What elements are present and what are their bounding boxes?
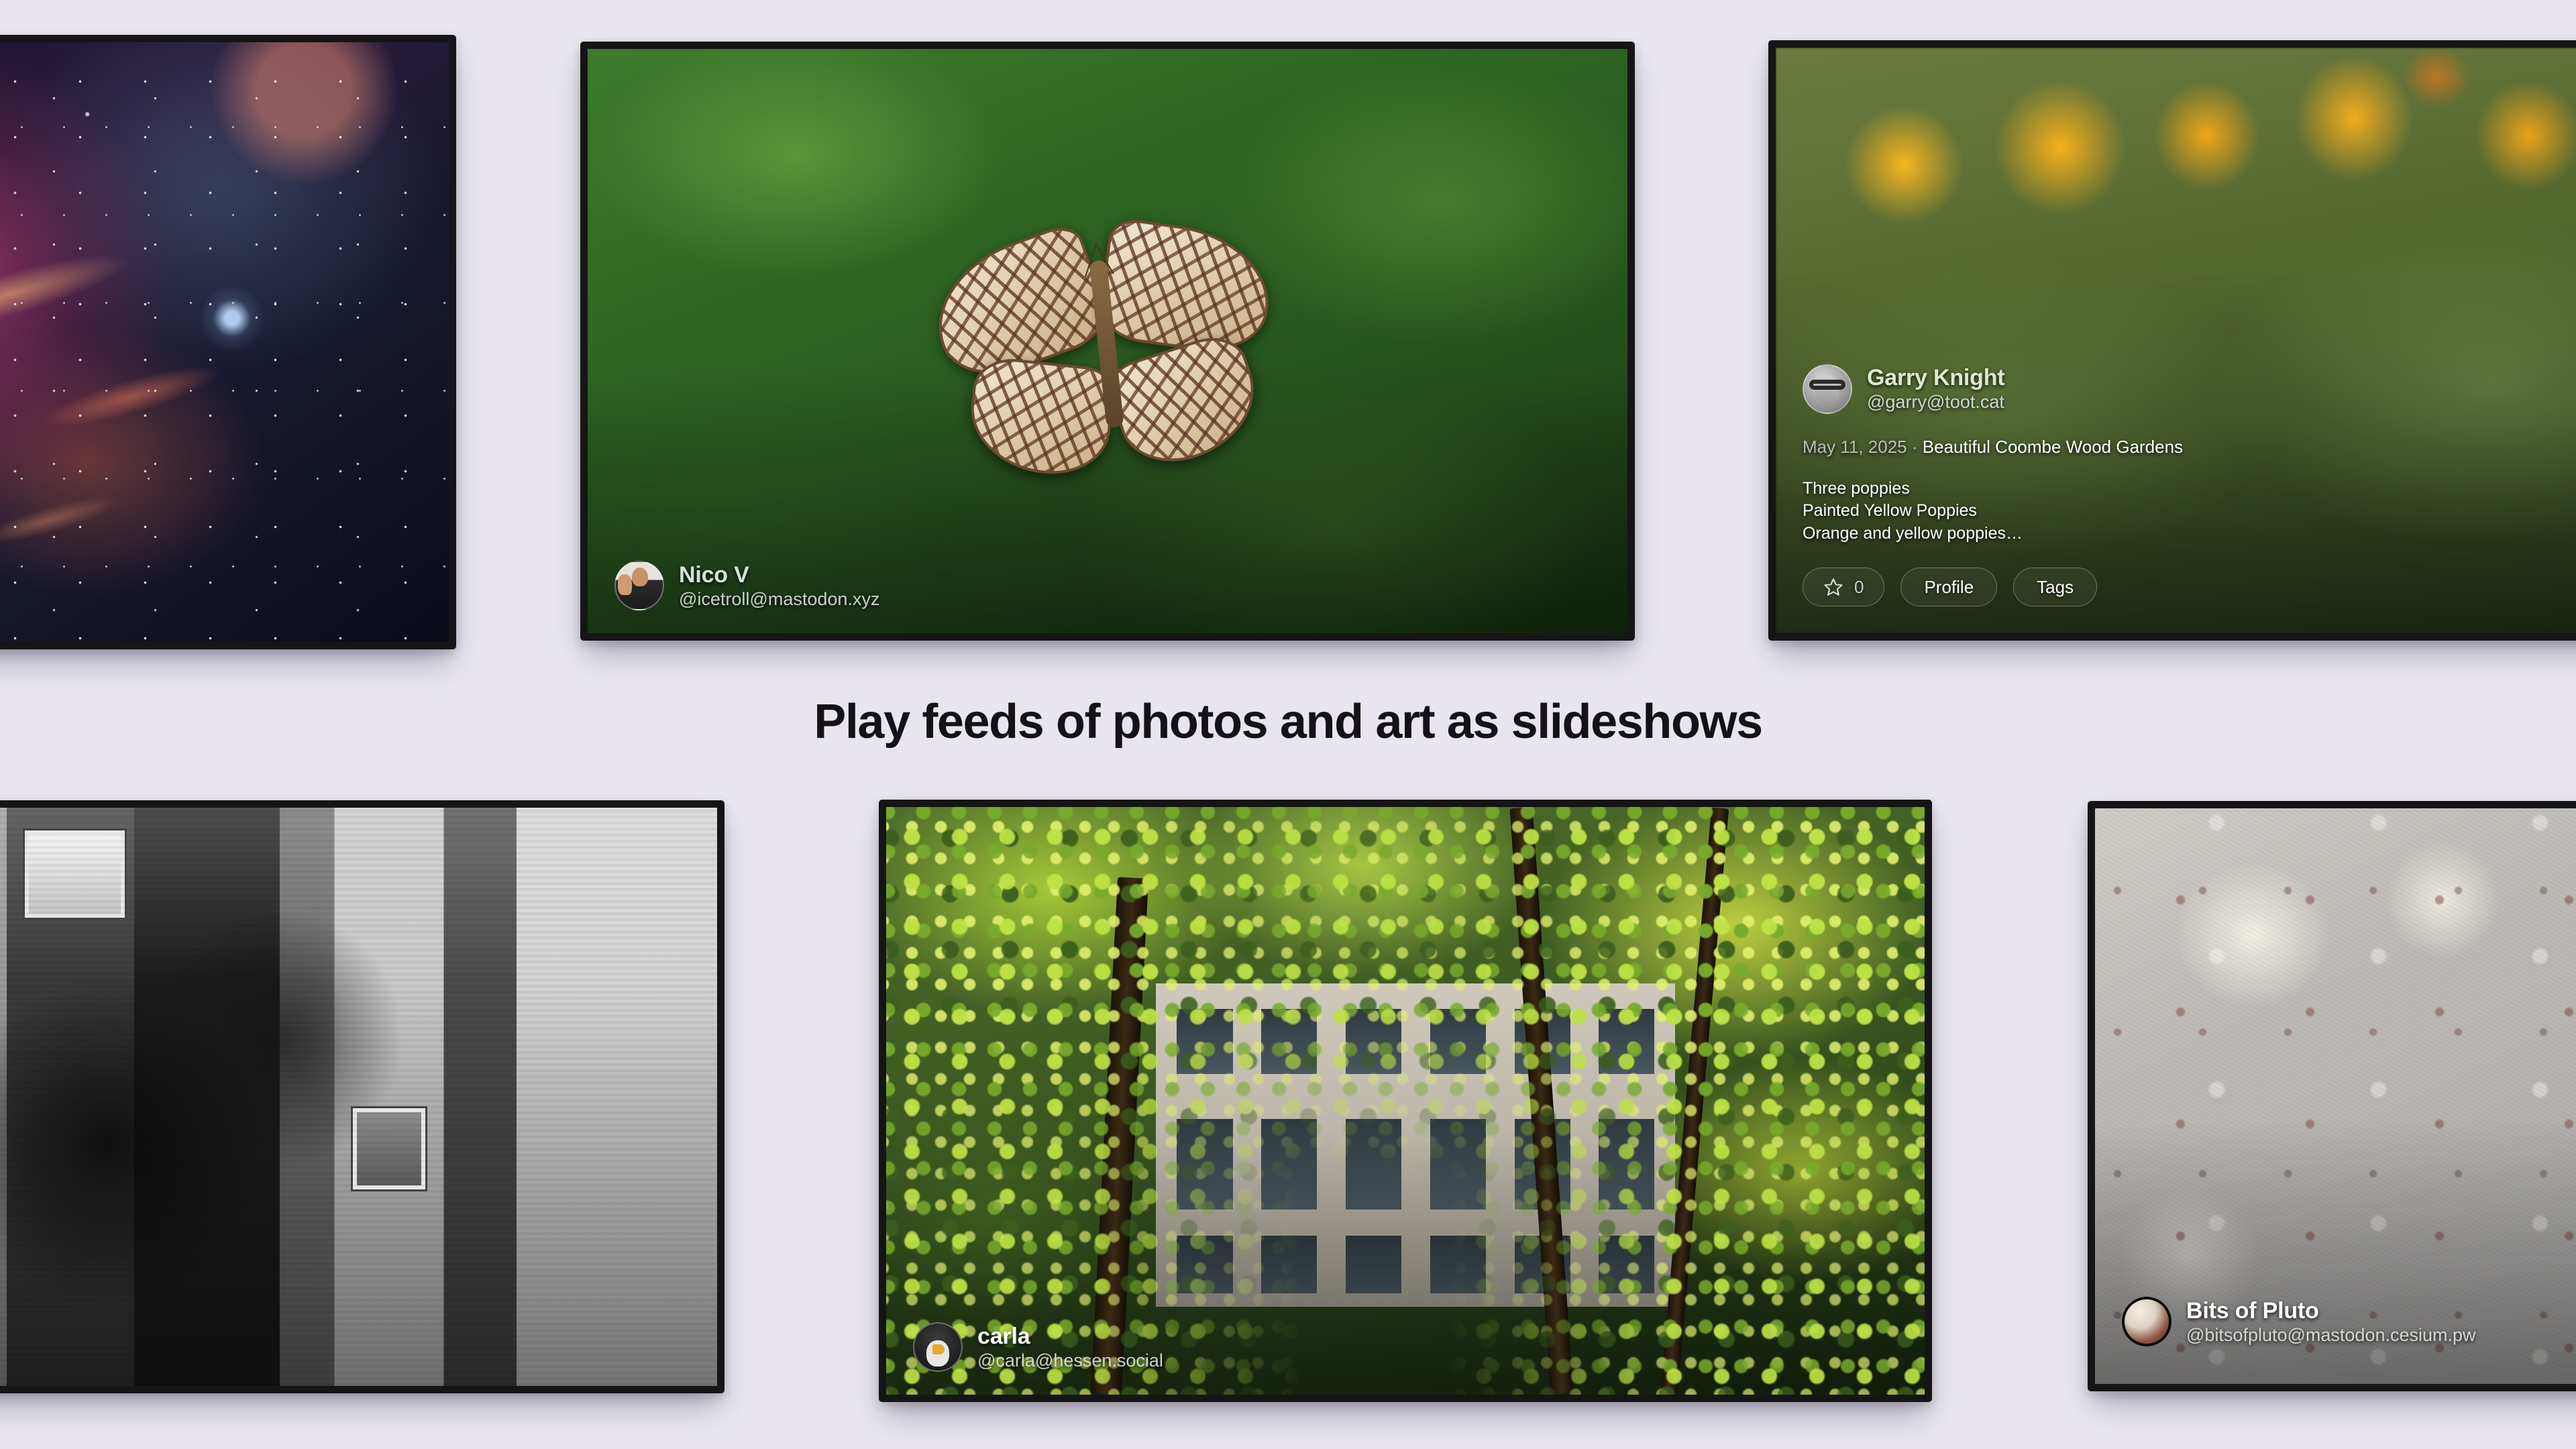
author-text: carla @carla@hessen.social <box>977 1324 1163 1371</box>
post-overlay: Garry Knight @garry@toot.cat May 11, 202… <box>1776 364 2576 634</box>
black-and-white-street-photo <box>0 808 717 1386</box>
author-row[interactable]: carla @carla@hessen.social <box>913 1322 1898 1372</box>
favourite-button[interactable]: 0 <box>1803 568 1884 606</box>
photo-card-trees[interactable]: carla @carla@hessen.social <box>879 800 1932 1402</box>
card-image-frame: Bits of Pluto @bitsofpluto@mastodon.cesi… <box>2095 808 2576 1384</box>
author-row[interactable]: Bits of Pluto @bitsofpluto@mastodon.cesi… <box>2122 1297 2576 1346</box>
avatar[interactable] <box>614 561 664 610</box>
profile-button[interactable]: Profile <box>1900 568 1997 606</box>
avatar[interactable] <box>913 1322 963 1372</box>
author-display-name: Garry Knight <box>1867 365 2004 390</box>
caption-line: Painted Yellow Poppies <box>1803 500 2576 523</box>
page-headline: Play feeds of photos and art as slidesho… <box>0 694 2576 749</box>
star-icon <box>1823 577 1843 597</box>
butterfly-subject <box>886 191 1330 515</box>
card-image-frame <box>0 808 717 1386</box>
post-overlay: Nico V @icetroll@mastodon.xyz <box>588 543 1627 633</box>
author-display-name: carla <box>977 1324 1163 1349</box>
photo-card-poppies[interactable]: Garry Knight @garry@toot.cat May 11, 202… <box>1768 40 2576 641</box>
post-caption: Three poppies Painted Yellow Poppies Ora… <box>1803 478 2576 545</box>
photo-card-street[interactable] <box>0 800 724 1393</box>
card-image-frame: Nico V @icetroll@mastodon.xyz <box>588 49 1627 633</box>
post-date: May 11, 2025 <box>1803 437 1907 457</box>
favourite-count: 0 <box>1854 577 1864 598</box>
author-display-name: Nico V <box>679 562 879 588</box>
card-image-frame: carla @carla@hessen.social <box>886 807 1925 1395</box>
post-overlay: Bits of Pluto @bitsofpluto@mastodon.cesi… <box>2095 1279 2576 1384</box>
author-text: Nico V @icetroll@mastodon.xyz <box>679 562 879 609</box>
avatar[interactable] <box>2122 1297 2171 1346</box>
post-actions: 0 Profile Tags <box>1803 568 2576 606</box>
author-handle: @bitsofpluto@mastodon.cesium.pw <box>2186 1325 2476 1345</box>
author-display-name: Bits of Pluto <box>2186 1298 2476 1324</box>
author-text: Garry Knight @garry@toot.cat <box>1867 365 2004 412</box>
photo-card-butterfly[interactable]: Nico V @icetroll@mastodon.xyz <box>580 42 1635 641</box>
author-handle: @carla@hessen.social <box>977 1350 1163 1371</box>
card-image-frame: Garry Knight @garry@toot.cat May 11, 202… <box>1776 48 2576 633</box>
tags-button[interactable]: Tags <box>2013 568 2097 606</box>
tags-button-label: Tags <box>2037 577 2074 598</box>
card-image-frame <box>0 42 449 642</box>
space-nebula-photo <box>0 42 449 642</box>
post-meta-line: May 11, 2025 · Beautiful Coombe Wood Gar… <box>1803 437 2576 458</box>
photo-card-pluto[interactable]: Bits of Pluto @bitsofpluto@mastodon.cesi… <box>2088 801 2576 1391</box>
photo-card-space-nebula[interactable] <box>0 35 456 649</box>
meta-separator: · <box>1912 437 1918 457</box>
author-handle: @icetroll@mastodon.xyz <box>679 589 879 609</box>
profile-button-label: Profile <box>1924 577 1974 598</box>
post-title: Beautiful Coombe Wood Gardens <box>1923 437 2183 457</box>
author-row[interactable]: Nico V @icetroll@mastodon.xyz <box>614 561 1601 610</box>
author-handle: @garry@toot.cat <box>1867 392 2004 412</box>
author-row[interactable]: Garry Knight @garry@toot.cat <box>1803 364 2576 414</box>
avatar[interactable] <box>1803 364 1852 414</box>
caption-line: Orange and yellow poppies… <box>1803 523 2576 545</box>
post-overlay: carla @carla@hessen.social <box>886 1305 1925 1395</box>
caption-line: Three poppies <box>1803 478 2576 500</box>
author-text: Bits of Pluto @bitsofpluto@mastodon.cesi… <box>2186 1298 2476 1345</box>
